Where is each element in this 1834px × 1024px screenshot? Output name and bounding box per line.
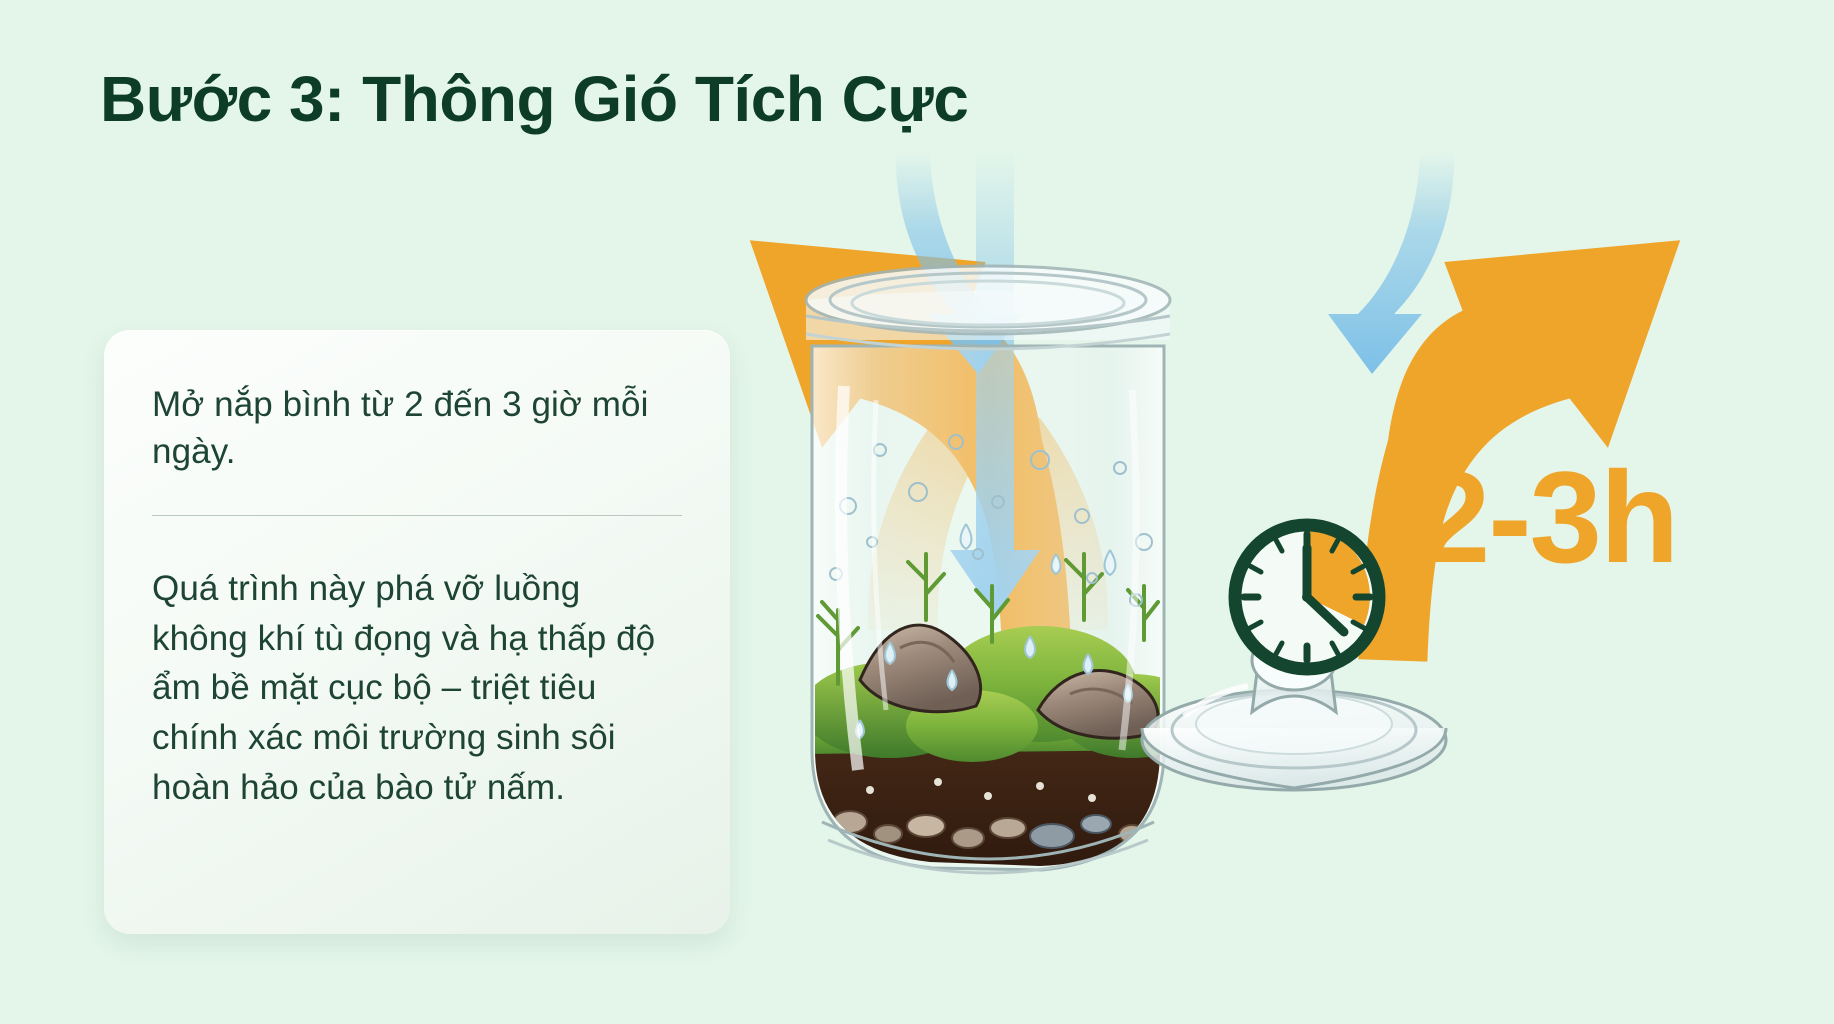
card-divider <box>152 515 682 516</box>
slide-canvas: Bước 3: Thông Gió Tích Cực Mở nắp bình t… <box>0 0 1834 1024</box>
info-card: Mở nắp bình từ 2 đến 3 giờ mỗi ngày. Quá… <box>104 330 730 934</box>
clock-icon <box>1222 512 1392 682</box>
jar-neck <box>806 266 1170 349</box>
glass-jar <box>800 266 1204 880</box>
duration-label: 2-3h <box>1418 452 1677 582</box>
instruction-body-text: Quá trình này phá vỡ luồng không khí tù … <box>152 564 682 812</box>
instruction-lead-text: Mở nắp bình từ 2 đến 3 giờ mỗi ngày. <box>152 382 682 475</box>
info-card-content: Mở nắp bình từ 2 đến 3 giờ mỗi ngày. Quá… <box>152 382 682 813</box>
page-title: Bước 3: Thông Gió Tích Cực <box>100 62 968 136</box>
